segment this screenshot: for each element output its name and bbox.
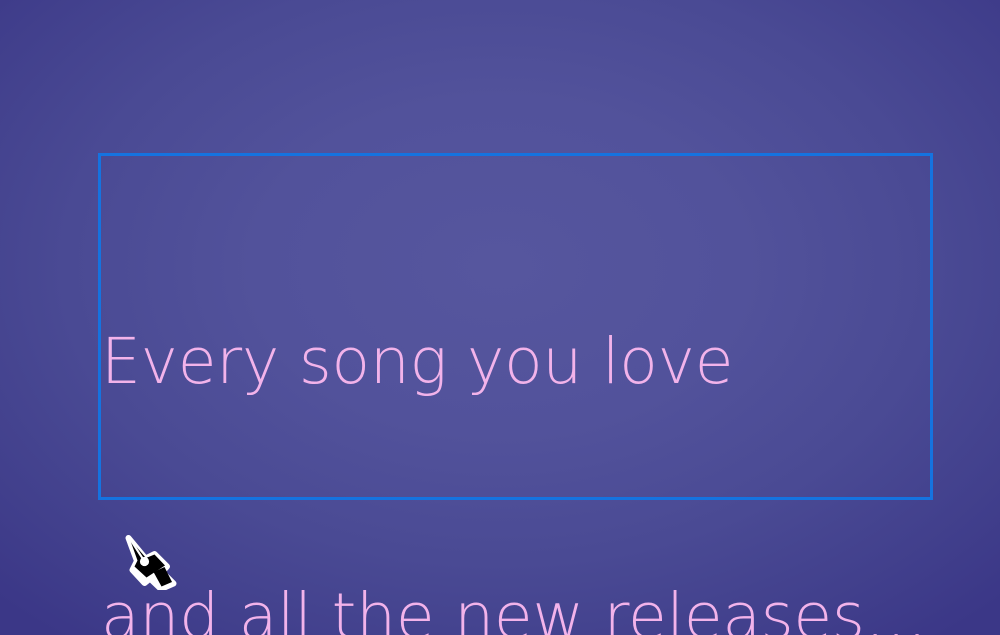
text-line-2: and all the new releases… [101, 574, 931, 635]
text-line-1: Every song you love [101, 319, 931, 404]
design-canvas[interactable]: Every song you love and all the new rele… [0, 0, 1000, 635]
headline-text-block[interactable]: Every song you love and all the new rele… [101, 149, 931, 635]
